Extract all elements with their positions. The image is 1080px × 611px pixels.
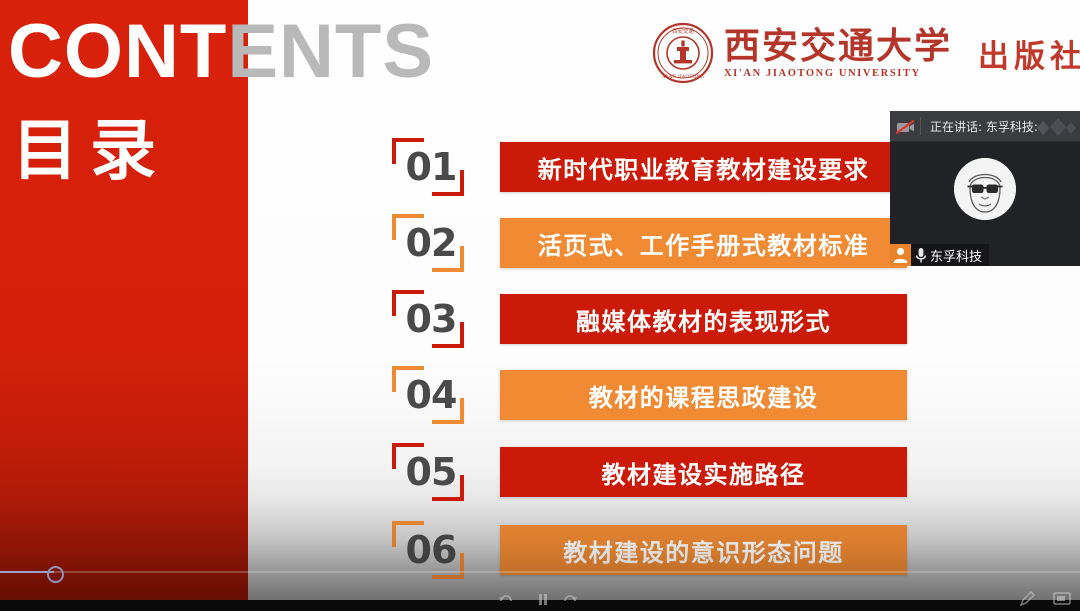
seek-handle[interactable]: [47, 566, 64, 583]
pencil-icon[interactable]: [1018, 590, 1036, 611]
slide-title-english-white: CONT: [8, 9, 227, 94]
speaker-video-overlay[interactable]: 正在讲话: 东孚科技:: [890, 111, 1080, 266]
agenda-label: 教材建设的意识形态问题: [563, 533, 844, 568]
avatar-portrait-icon: [954, 158, 1016, 220]
agenda-item: 05教材建设实施路径: [392, 443, 907, 501]
video-header: 正在讲话: 东孚科技:: [890, 111, 1080, 142]
agenda-label: 教材建设实施路径: [602, 455, 806, 490]
agenda-label-bar: 教材的课程思政建设: [500, 370, 907, 420]
agenda-item: 01新时代职业教育教材建设要求: [392, 138, 907, 196]
seek-progress-fill: [0, 571, 54, 573]
participant-icon: [890, 244, 911, 266]
speaking-status-label: 正在讲话: 东孚科技:: [930, 118, 1038, 135]
presentation-slide: CONTENTS 目录: [0, 0, 1080, 600]
agenda-number: 02: [404, 221, 458, 265]
agenda-label-bar: 新时代职业教育教材建设要求: [500, 142, 907, 192]
university-seal-icon: 西安交通 XI'AN JIAOTONG: [652, 22, 714, 84]
microphone-icon: [913, 244, 929, 266]
agenda-item: 03融媒体教材的表现形式: [392, 290, 907, 348]
slide-title-english-gray: ENTS: [227, 9, 434, 94]
seek-track[interactable]: [0, 571, 1080, 573]
slide-title-english: CONTENTS: [8, 8, 478, 96]
university-name-cn: 西安交通大学: [724, 27, 952, 65]
pause-icon[interactable]: [535, 591, 551, 611]
agenda-number: 05: [404, 450, 458, 494]
publisher-logo: 西安交通 XI'AN JIAOTONG 西安交通大学 XI'AN JIAOTON…: [652, 18, 1080, 88]
press-name-cn: 出版社: [978, 31, 1080, 76]
publisher-logo-text: 西安交通大学 XI'AN JIAOTONG UNIVERSITY: [724, 27, 952, 79]
agenda-item: 02活页式、工作手册式教材标准: [392, 214, 907, 272]
header-divider: [920, 117, 921, 135]
agenda-label: 融媒体教材的表现形式: [576, 302, 831, 337]
screen: CONTENTS 目录: [0, 0, 1080, 611]
agenda-label-bar: 融媒体教材的表现形式: [500, 294, 907, 344]
agenda-number: 01: [404, 145, 458, 189]
audio-level-icon: [1034, 116, 1076, 136]
agenda-label: 新时代职业教育教材建设要求: [538, 150, 870, 185]
agenda-label-bar: 教材建设的意识形态问题: [500, 525, 907, 575]
playback-seek-bar[interactable]: [0, 570, 1080, 574]
agenda-label: 活页式、工作手册式教材标准: [538, 226, 870, 261]
participant-name-badge: 东孚科技: [890, 244, 989, 266]
slide-title-chinese: 目录: [12, 110, 168, 192]
agenda-number: 03: [404, 297, 458, 341]
participant-name-label: 东孚科技: [929, 246, 989, 265]
agenda-number: 06: [404, 528, 458, 572]
agenda-label-bar: 活页式、工作手册式教材标准: [500, 218, 907, 268]
screen-share-icon[interactable]: [1053, 591, 1071, 611]
svg-text:XI'AN JIAOTONG: XI'AN JIAOTONG: [662, 74, 704, 80]
svg-text:西安交通: 西安交通: [672, 27, 694, 35]
agenda-item: 04教材的课程思政建设: [392, 366, 907, 424]
university-name-en: XI'AN JIAOTONG UNIVERSITY: [724, 68, 952, 79]
agenda-label: 教材的课程思政建设: [589, 378, 819, 413]
forward-icon[interactable]: [562, 591, 578, 611]
agenda-number: 04: [404, 373, 458, 417]
video-body: 东孚科技: [890, 142, 1080, 266]
player-control-bar: [0, 600, 1080, 611]
rewind-icon[interactable]: [498, 591, 514, 611]
agenda-label-bar: 教材建设实施路径: [500, 447, 907, 497]
camera-off-icon[interactable]: [890, 111, 920, 141]
